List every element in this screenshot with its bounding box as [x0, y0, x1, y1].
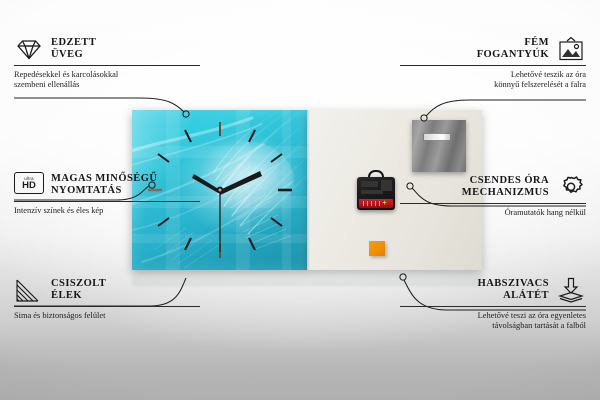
hanger-slot — [423, 133, 451, 141]
clock-hands — [192, 171, 262, 252]
clock-movement: + — [357, 170, 395, 210]
callout-title: CSENDES ÓRA MECHANIZMUS — [462, 175, 549, 199]
callout-description: Lehetővé teszik az óra könnyű felszerelé… — [400, 70, 586, 91]
callout-description: Repedésekkel és karcolásokkal szembeni e… — [14, 70, 200, 91]
callout-header: CSENDES ÓRA MECHANIZMUS — [400, 174, 586, 200]
callout-header: FÉM FOGANTYÚK — [400, 36, 586, 62]
battery: + — [359, 199, 393, 208]
callout-description: Sima és biztonságos felület — [14, 311, 200, 321]
metal-hanger-plate — [412, 120, 466, 172]
callout-title: CSISZOLT ÉLEK — [51, 278, 106, 302]
gear-icon — [556, 174, 586, 200]
callout-title: FÉM FOGANTYÚK — [477, 37, 549, 61]
infographic-canvas: + — [0, 0, 600, 400]
arrow-onto-pad-icon — [556, 277, 586, 303]
foam-pad — [369, 241, 385, 256]
callout-silent-movement: CSENDES ÓRA MECHANIZMUS Óramutatók hang … — [400, 174, 586, 218]
callout-title: MAGAS MINŐSÉGŰ NYOMTATÁS — [51, 173, 157, 197]
callout-hd-print: ultra HD MAGAS MINŐSÉGŰ NYOMTATÁS Intenz… — [14, 172, 200, 216]
callout-description: Intenzív színek és éles kép — [14, 206, 200, 216]
picture-frame-hook-icon — [556, 36, 586, 62]
callout-metal-handles: FÉM FOGANTYÚK Lehetővé teszik az óra kön… — [400, 36, 586, 90]
callout-header: ultra HD MAGAS MINŐSÉGŰ NYOMTATÁS — [14, 172, 200, 198]
callout-description: Óramutatók hang nélkül — [400, 208, 586, 218]
callout-header: HABSZIVACS ALÁTÉT — [400, 277, 586, 303]
badge-text-hd: HD — [22, 181, 36, 191]
callout-divider — [14, 65, 200, 66]
callout-description: Lehetővé teszi az óra egyenletes távolsá… — [400, 311, 586, 332]
callout-divider — [400, 306, 586, 307]
callout-tempered-glass: EDZETT ÜVEG Repedésekkel és karcolásokka… — [14, 36, 200, 90]
ultra-hd-badge-icon: ultra HD — [14, 172, 44, 198]
callout-polished-edges: CSISZOLT ÉLEK Sima és biztonságos felüle… — [14, 277, 200, 321]
battery-plus-marking: + — [381, 200, 388, 207]
diamond-icon — [14, 36, 44, 62]
movement-body: + — [357, 177, 395, 210]
callout-foam-pad: HABSZIVACS ALÁTÉT Lehetővé teszi az óra … — [400, 277, 586, 331]
callout-divider — [400, 65, 586, 66]
callout-title: HABSZIVACS ALÁTÉT — [478, 278, 549, 302]
callout-title: EDZETT ÜVEG — [51, 37, 96, 61]
callout-divider — [14, 201, 200, 202]
movement-notch — [361, 190, 383, 194]
polished-edge-icon — [14, 277, 44, 303]
callout-header: CSISZOLT ÉLEK — [14, 277, 200, 303]
movement-notch — [361, 181, 378, 187]
callout-divider — [400, 203, 586, 204]
callout-divider — [14, 306, 200, 307]
callout-header: EDZETT ÜVEG — [14, 36, 200, 62]
